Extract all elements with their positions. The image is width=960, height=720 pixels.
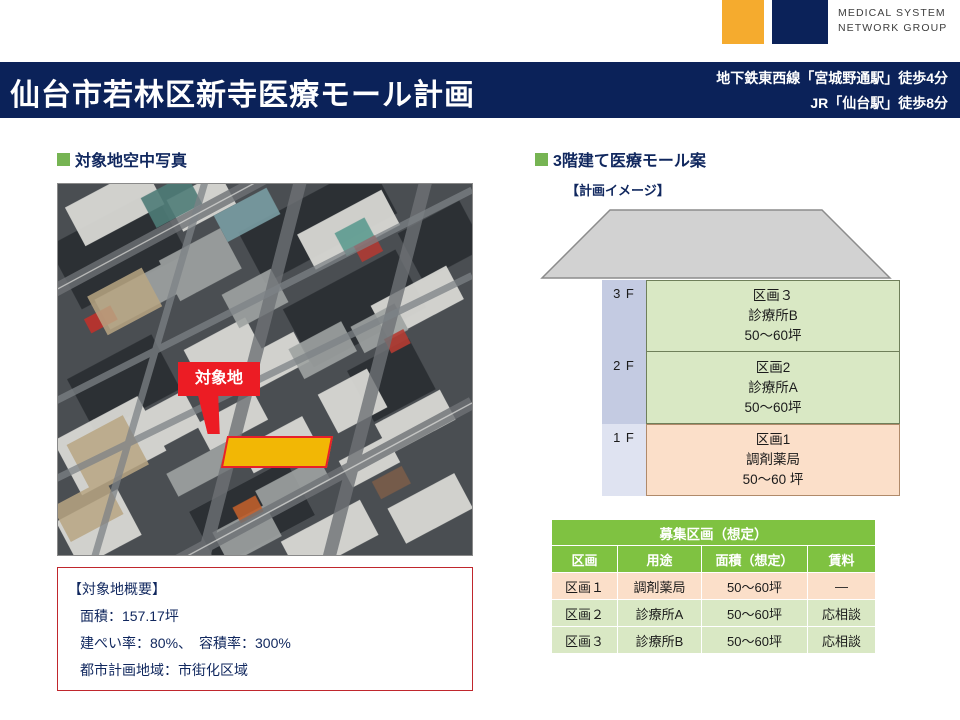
- column-header-area: 面積（想定）: [702, 546, 808, 573]
- row3-unit: 区画３: [552, 627, 618, 654]
- access-line-subway: 地下鉄東西線「宮城野通駅」徒歩4分: [716, 66, 948, 91]
- section-heading-aerial: 対象地空中写真: [57, 147, 187, 171]
- section-heading-aerial-label: 対象地空中写真: [75, 147, 187, 171]
- column-header-rent: 賃料: [808, 546, 876, 573]
- table-row: 区画１ 調剤薬局 50〜60坪 ―: [552, 573, 876, 600]
- floor-row-3f: 3 F 区画３ 診療所B 50〜60坪: [602, 280, 900, 352]
- units-table-title: 募集区画（想定）: [552, 520, 876, 546]
- row2-unit: 区画２: [552, 600, 618, 627]
- floor-body-3f: 区画３ 診療所B 50〜60坪: [646, 280, 900, 352]
- company-logo: [722, 0, 828, 44]
- row1-unit: 区画１: [552, 573, 618, 600]
- site-summary-area: 面積：157.17坪: [68, 603, 472, 630]
- floor-2f-use: 診療所A: [748, 378, 798, 398]
- floor-2f-unit: 区画2: [756, 358, 791, 378]
- section-heading-building: 3階建て医療モール案: [535, 147, 706, 171]
- floor-2f-area: 50〜60坪: [744, 398, 801, 418]
- row3-rent: 応相談: [808, 627, 876, 654]
- logo-orange-square: [722, 0, 764, 44]
- access-info: 地下鉄東西線「宮城野通駅」徒歩4分 JR「仙台駅」徒歩8分: [716, 66, 948, 116]
- floor-body-2f: 区画2 診療所A 50〜60坪: [646, 352, 900, 424]
- building-diagram: 3 F 区画３ 診療所B 50〜60坪 2 F 区画2 診療所A 50〜60坪 …: [540, 208, 900, 508]
- column-header-unit: 区画: [552, 546, 618, 573]
- row1-rent: ―: [808, 573, 876, 600]
- square-bullet-icon: [535, 153, 548, 166]
- floor-row-1f: 1 F 区画1 調剤薬局 50〜60 坪: [602, 424, 900, 496]
- row2-rent: 応相談: [808, 600, 876, 627]
- logo-gap: [764, 0, 772, 44]
- table-row: 区画２ 診療所A 50〜60坪 応相談: [552, 600, 876, 627]
- company-name-line2: NETWORK GROUP: [838, 21, 960, 36]
- row3-area: 50〜60坪: [702, 627, 808, 654]
- target-site-callout-label: 対象地: [178, 362, 260, 396]
- brand-strip: MEDICAL SYSTEM NETWORK GROUP: [0, 0, 960, 46]
- company-name-line1: MEDICAL SYSTEM: [838, 6, 960, 21]
- access-line-jr: JR「仙台駅」徒歩8分: [716, 91, 948, 116]
- target-parcel-highlight: [221, 436, 333, 468]
- units-table: 募集区画（想定） 区画 用途 面積（想定） 賃料 区画１ 調剤薬局 50〜60坪…: [551, 519, 876, 654]
- floor-1f-use: 調剤薬局: [746, 450, 800, 470]
- floor-label-1f: 1 F: [602, 424, 646, 496]
- title-bar: 仙台市若林区新寺医療モール計画 地下鉄東西線「宮城野通駅」徒歩4分 JR「仙台駅…: [0, 62, 960, 118]
- floor-3f-use: 診療所B: [748, 306, 798, 326]
- site-summary-ratios: 建ぺい率：80%、 容積率：300%: [68, 630, 472, 657]
- row2-area: 50〜60坪: [702, 600, 808, 627]
- floor-stack: 3 F 区画３ 診療所B 50〜60坪 2 F 区画2 診療所A 50〜60坪 …: [602, 280, 900, 496]
- row1-area: 50〜60坪: [702, 573, 808, 600]
- column-header-use: 用途: [618, 546, 702, 573]
- floor-3f-area: 50〜60坪: [744, 326, 801, 346]
- floor-1f-unit: 区画1: [756, 430, 791, 450]
- aerial-photo: 対象地: [57, 183, 473, 556]
- table-row: 区画３ 診療所B 50〜60坪 応相談: [552, 627, 876, 654]
- target-site-callout: 対象地: [178, 362, 260, 396]
- row3-use: 診療所B: [618, 627, 702, 654]
- roof-shape-icon: [540, 208, 892, 280]
- company-name: MEDICAL SYSTEM NETWORK GROUP: [838, 6, 960, 36]
- square-bullet-icon: [57, 153, 70, 166]
- row1-use: 調剤薬局: [618, 573, 702, 600]
- row2-use: 診療所A: [618, 600, 702, 627]
- floor-label-3f: 3 F: [602, 280, 646, 352]
- floor-3f-unit: 区画３: [753, 286, 794, 306]
- units-table-header-row: 区画 用途 面積（想定） 賃料: [552, 546, 876, 573]
- units-table-title-row: 募集区画（想定）: [552, 520, 876, 546]
- floor-1f-area: 50〜60 坪: [743, 470, 804, 490]
- site-summary-title: 【対象地概要】: [68, 576, 472, 603]
- logo-navy-square: [772, 0, 828, 44]
- floor-body-1f: 区画1 調剤薬局 50〜60 坪: [646, 424, 900, 496]
- plan-image-subheading: 【計画イメージ】: [566, 180, 670, 199]
- slide-page: MEDICAL SYSTEM NETWORK GROUP 仙台市若林区新寺医療モ…: [0, 0, 960, 720]
- floor-label-2f: 2 F: [602, 352, 646, 424]
- aerial-photo-image: [58, 184, 472, 555]
- section-heading-building-label: 3階建て医療モール案: [553, 147, 706, 171]
- site-summary-box: 【対象地概要】 面積：157.17坪 建ぺい率：80%、 容積率：300% 都市…: [57, 567, 473, 691]
- site-summary-zoning: 都市計画地域：市街化区域: [68, 657, 472, 684]
- floor-row-2f: 2 F 区画2 診療所A 50〜60坪: [602, 352, 900, 424]
- page-title: 仙台市若林区新寺医療モール計画: [10, 70, 475, 114]
